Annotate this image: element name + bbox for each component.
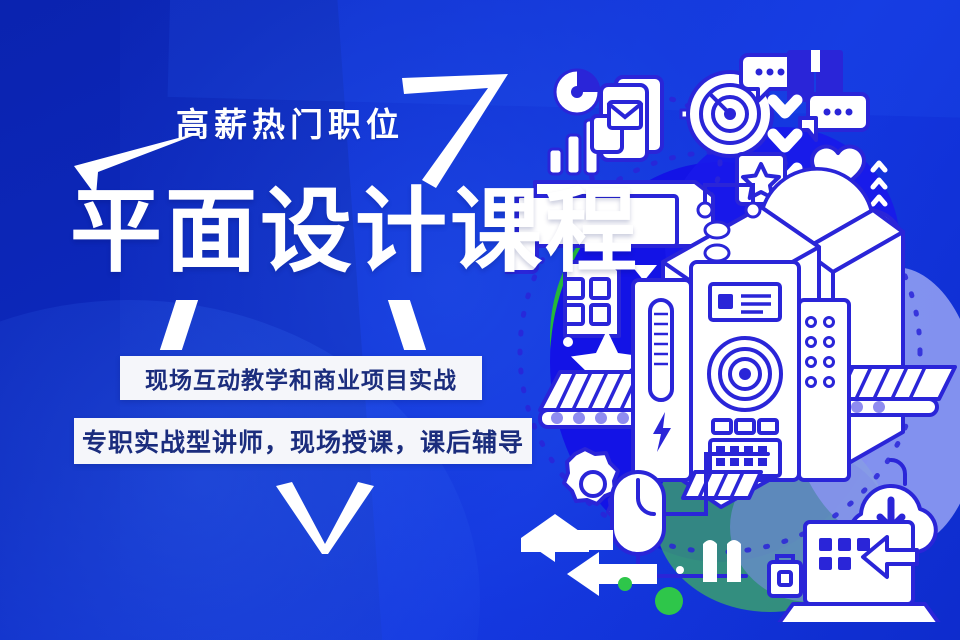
chat-bubble-small-icon	[800, 94, 868, 140]
illustration-group: .w{fill:#ffffff;stroke:#2a25d8;stroke-wi…	[505, 22, 960, 622]
green-dot-decoration-2	[655, 587, 683, 615]
corner-bracket-right-icon	[396, 72, 516, 190]
button-row	[713, 420, 777, 433]
speaker-dial-icon	[709, 338, 781, 410]
illustration-icons-svg: .w{fill:#ffffff;stroke:#2a25d8;stroke-wi…	[505, 22, 960, 622]
small-dot-decoration	[563, 337, 573, 347]
cube-icon	[769, 556, 801, 596]
chevron-down-mark-icon	[270, 482, 380, 556]
dot-grid-tower-icon	[799, 300, 849, 480]
headline-text: 平面设计课程	[70, 184, 640, 282]
pie-chart-icon	[555, 70, 599, 114]
course-promo-banner: .w{fill:#ffffff;stroke:#2a25d8;stroke-wi…	[0, 0, 960, 640]
info-bar-primary: 现场互动教学和商业项目实战	[120, 356, 482, 400]
green-dot-decoration	[618, 577, 632, 591]
envelope-mail-icon	[592, 77, 662, 160]
striped-foot-icon	[683, 472, 761, 498]
tiny-dot-decoration	[676, 566, 684, 574]
chevron-up-stack-icon	[873, 163, 885, 204]
gear-icon	[564, 449, 618, 504]
display-panel-icon	[633, 262, 799, 480]
info-bar-secondary: 专职实战型讲师，现场授课，课后辅导	[74, 418, 532, 464]
eyebrow-text: 高薪热门职位	[176, 98, 404, 146]
